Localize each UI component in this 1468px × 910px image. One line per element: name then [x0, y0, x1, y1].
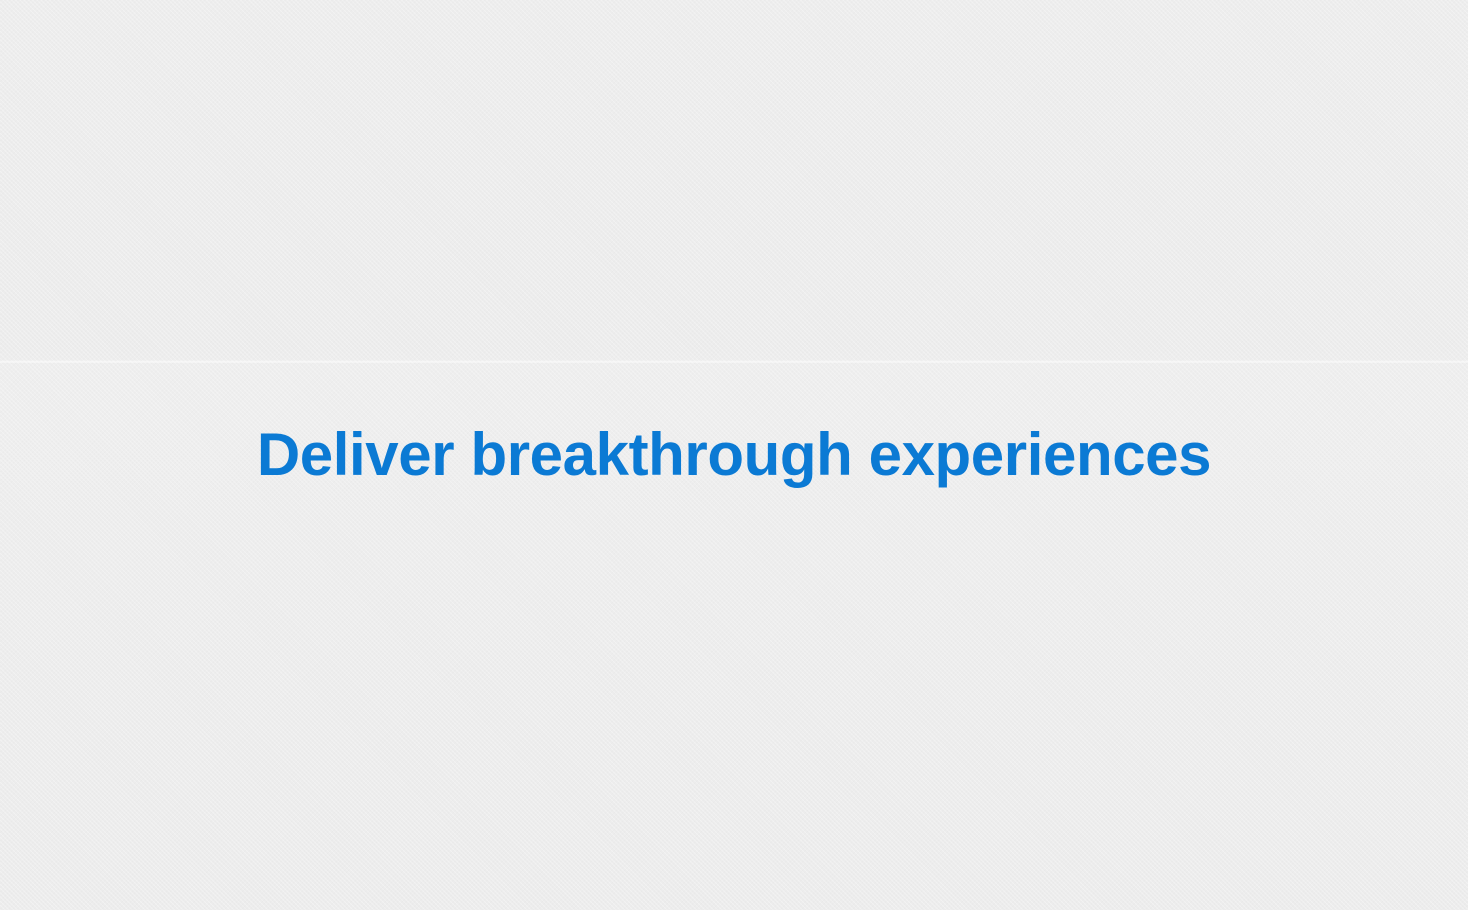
slide-background-band-edge [0, 360, 1468, 363]
slide-title: Deliver breakthrough experiences [257, 423, 1211, 487]
slide-title-placeholder: Deliver breakthrough experiences [0, 411, 1468, 499]
presentation-slide: Deliver breakthrough experiences [0, 0, 1468, 910]
